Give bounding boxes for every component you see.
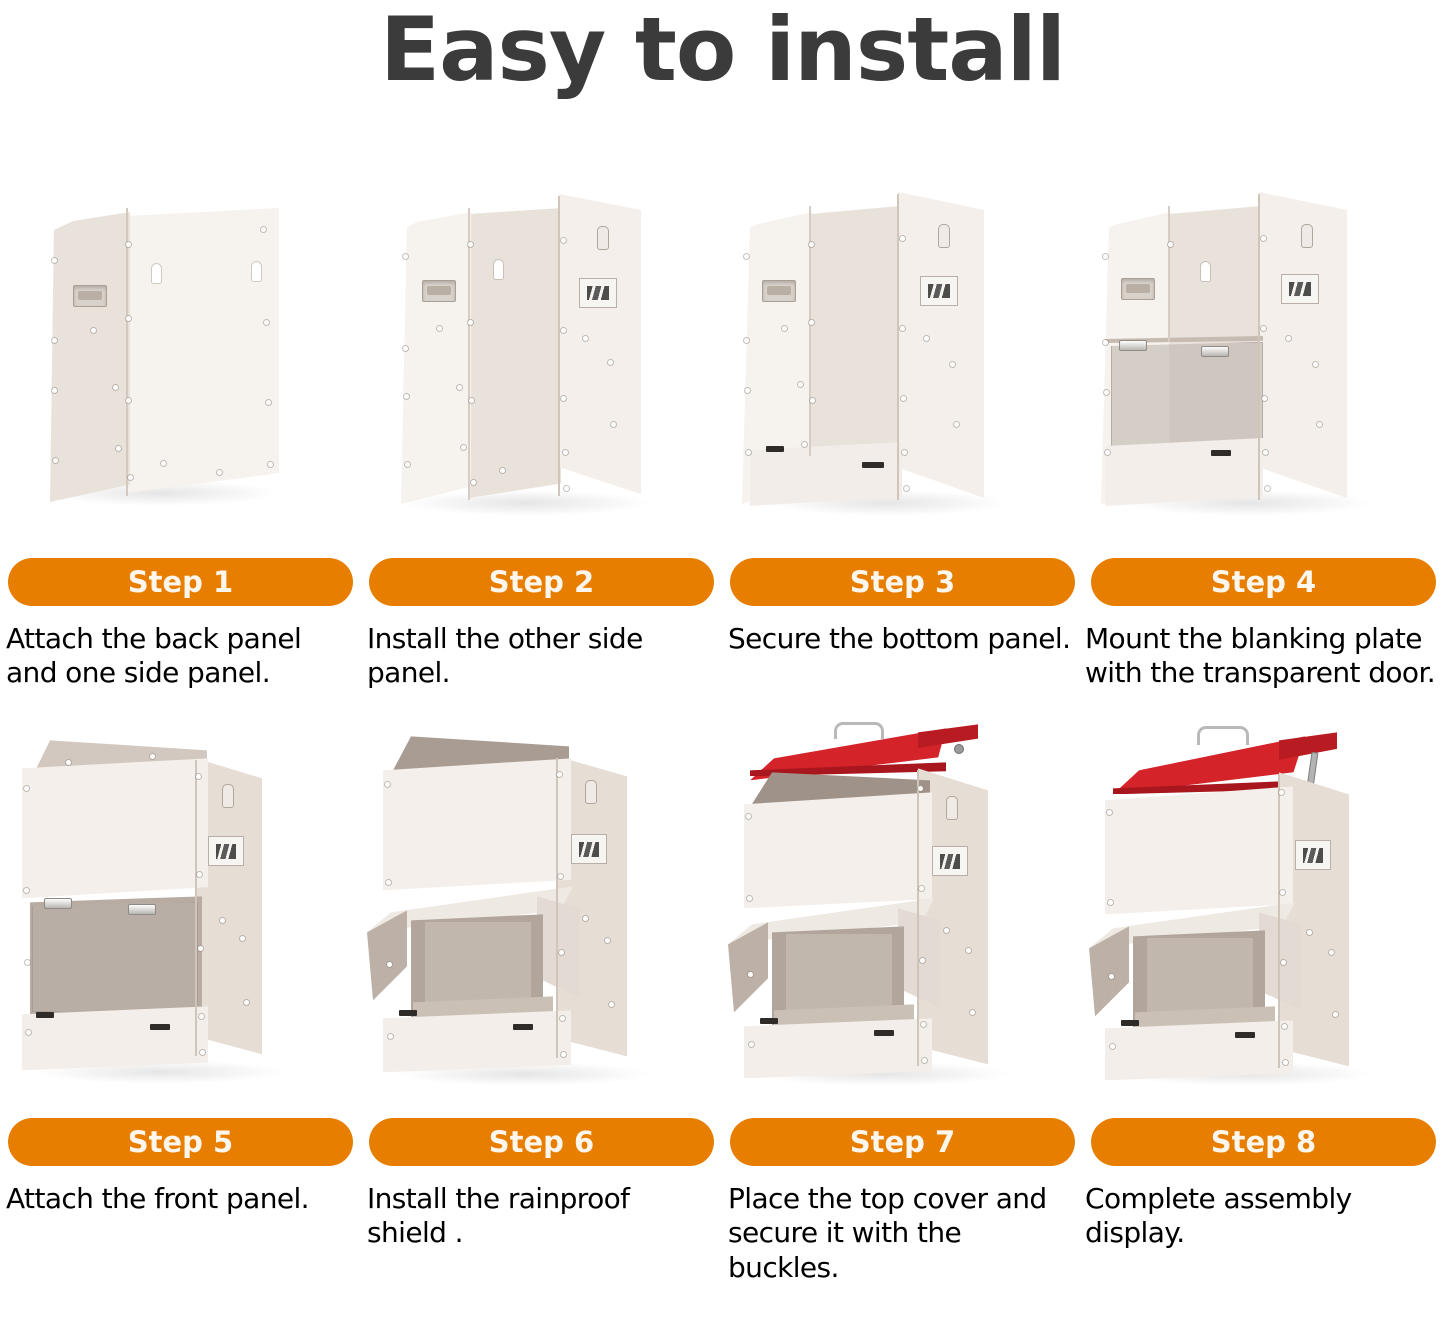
steps-row-1: Step 1 Attach the back panel and one sid… — [0, 150, 1445, 690]
step-badge-7: Step 7 — [730, 1118, 1075, 1166]
step-3-illustration — [722, 150, 1083, 550]
keyhole-slot — [252, 262, 261, 281]
step-caption-7: Place the top cover and secure it with t… — [728, 1182, 1073, 1284]
step-card-4: Step 4 Mount the blanking plate with the… — [1083, 150, 1444, 690]
buckle-latch-plate — [579, 278, 617, 308]
infographic-page: Easy to install — [0, 0, 1445, 1340]
step-2-illustration — [361, 150, 722, 550]
step-6-illustration — [361, 710, 722, 1110]
step-badge-2: Step 2 — [369, 558, 714, 606]
step-8-illustration — [1083, 710, 1444, 1110]
page-title: Easy to install — [0, 2, 1445, 99]
step-7-illustration — [722, 710, 1083, 1110]
step-card-3: Step 3 Secure the bottom panel. — [722, 150, 1083, 690]
door-hinge — [1119, 340, 1147, 351]
step-1-illustration — [0, 150, 361, 550]
keyhole-slot — [152, 264, 161, 283]
step-card-1: Step 1 Attach the back panel and one sid… — [0, 150, 361, 690]
step-badge-4: Step 4 — [1091, 558, 1436, 606]
step-card-6: Step 6 Install the rainproof shield . — [361, 710, 722, 1284]
step-caption-8: Complete assembly display. — [1085, 1182, 1442, 1250]
step-card-5: Step 5 Attach the front panel. — [0, 710, 361, 1284]
steps-grid: Step 1 Attach the back panel and one sid… — [0, 150, 1445, 1285]
buckle-latch-plate — [571, 834, 607, 864]
step-badge-8: Step 8 — [1091, 1118, 1436, 1166]
step-caption-6: Install the rainproof shield . — [367, 1182, 712, 1250]
step-caption-4: Mount the blanking plate with the transp… — [1085, 622, 1442, 690]
step-card-8: Step 8 Complete assembly display. — [1083, 710, 1444, 1284]
step-badge-1: Step 1 — [8, 558, 353, 606]
steps-row-2: Step 5 Attach the front panel. — [0, 710, 1445, 1284]
step-card-7: Step 7 Place the top cover and secure it… — [722, 710, 1083, 1284]
step-caption-3: Secure the bottom panel. — [728, 622, 1073, 656]
carry-handle — [1197, 726, 1249, 745]
keyhole-slot — [494, 260, 503, 279]
buckle-latch-plate — [1295, 840, 1331, 870]
transparent-door — [1111, 342, 1263, 454]
step-card-2: Step 2 Install the other side panel. — [361, 150, 722, 690]
buckle-latch-plate — [932, 846, 968, 876]
step-badge-5: Step 5 — [8, 1118, 353, 1166]
buckle-latch-plate — [208, 836, 244, 866]
carry-handle — [834, 722, 884, 739]
buckle-latch-plate — [1281, 274, 1319, 304]
step-badge-3: Step 3 — [730, 558, 1075, 606]
door-hinge — [1201, 346, 1229, 357]
step-badge-6: Step 6 — [369, 1118, 714, 1166]
step-caption-2: Install the other side panel. — [367, 622, 712, 690]
step-4-illustration — [1083, 150, 1444, 550]
step-5-illustration — [0, 710, 361, 1110]
step-caption-5: Attach the front panel. — [6, 1182, 351, 1216]
step-caption-1: Attach the back panel and one side panel… — [6, 622, 351, 690]
grab-handle-plate — [73, 285, 107, 307]
buckle-latch-plate — [920, 276, 958, 306]
